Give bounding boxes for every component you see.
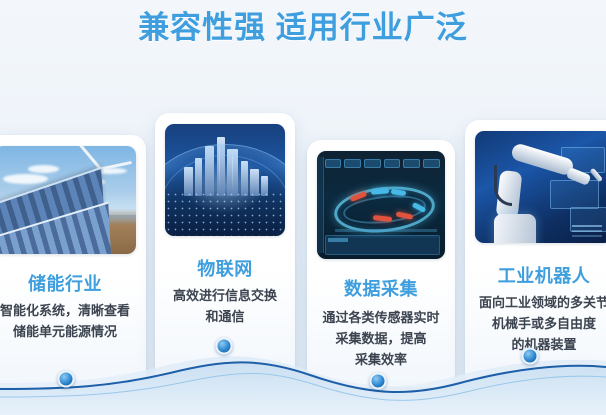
city-network-image — [165, 124, 285, 236]
wave-dot — [370, 373, 387, 390]
card-desc-energy-storage: 智能化系统，清晰查看 储能单元能源情况 — [0, 300, 146, 342]
industrial-robot-thumbnail — [475, 131, 606, 243]
card-title-energy-storage: 储能行业 — [0, 270, 146, 296]
iot-thumbnail — [165, 124, 285, 236]
energy-storage-thumbnail — [0, 146, 136, 254]
solar-wind-image — [0, 146, 136, 254]
wave-dot — [58, 371, 75, 388]
card-title-iot: 物联网 — [155, 255, 295, 281]
decorative-wave — [0, 337, 606, 415]
wave-dot — [216, 338, 233, 355]
robot-arm-image — [475, 131, 606, 243]
card-desc-iot: 高效进行信息交换 和通信 — [157, 285, 293, 327]
wave-dot — [522, 348, 539, 365]
card-title-industrial-robot: 工业机器人 — [465, 262, 606, 288]
monitoring-dashboard-image — [317, 151, 445, 259]
promo-banner: 兼容性强 适用行业广泛 储能行业 智能化系统，清晰查看 储能单元能源情况 — [0, 0, 606, 415]
wave-svg — [0, 337, 606, 415]
data-collection-thumbnail — [317, 151, 445, 259]
card-title-data-collection: 数据采集 — [307, 275, 455, 301]
